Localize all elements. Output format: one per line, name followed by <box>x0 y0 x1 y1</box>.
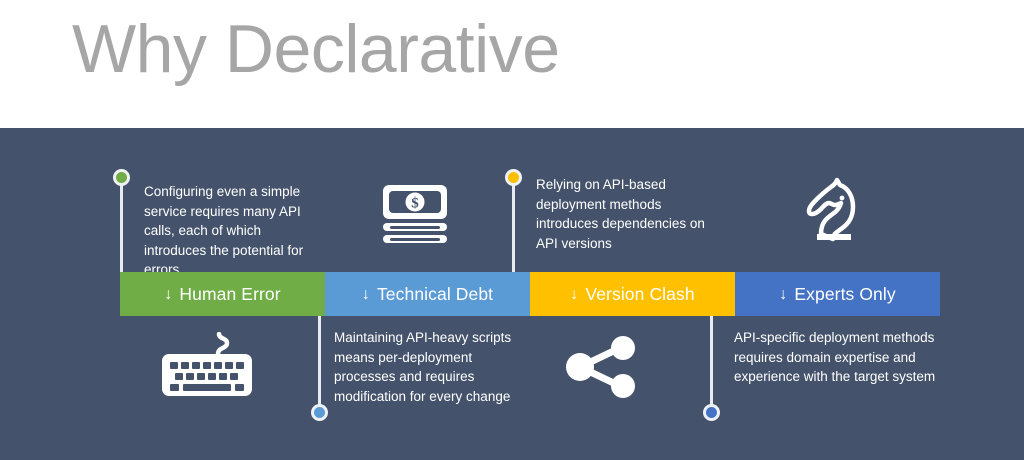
marker-dot-technical-debt <box>311 404 328 421</box>
marker-dot-version-clash <box>505 169 522 186</box>
bar-segment-experts-only[interactable]: ↓ Experts Only <box>735 272 940 316</box>
bar-segment-version-clash[interactable]: ↓ Version Clash <box>530 272 735 316</box>
bar-segment-label: Human Error <box>179 284 280 305</box>
down-arrow-icon: ↓ <box>779 287 787 303</box>
chess-knight-icon <box>795 170 861 246</box>
note-experts-only: API-specific deployment methods requires… <box>734 328 939 387</box>
marker-dot-human-error <box>113 169 130 186</box>
down-arrow-icon: ↓ <box>164 287 172 303</box>
down-arrow-icon: ↓ <box>362 287 370 303</box>
keyboard-icon <box>160 332 254 398</box>
network-share-icon <box>562 336 642 398</box>
connector-stem-version-clash <box>512 175 515 272</box>
connector-stem-experts-only <box>710 316 713 413</box>
note-technical-debt: Maintaining API-heavy scripts means per-… <box>334 328 519 406</box>
connector-stem-technical-debt <box>318 316 321 413</box>
note-version-clash: Relying on API-based deployment methods … <box>536 175 716 253</box>
bar-segment-label: Version Clash <box>585 284 694 305</box>
page-title: Why Declarative <box>72 14 560 85</box>
money-stack-icon: $ <box>380 183 450 245</box>
category-bar: ↓ Human Error ↓ Technical Debt ↓ Version… <box>120 272 940 316</box>
svg-text:$: $ <box>411 196 419 212</box>
bar-segment-technical-debt[interactable]: ↓ Technical Debt <box>325 272 530 316</box>
down-arrow-icon: ↓ <box>570 287 578 303</box>
marker-dot-experts-only <box>703 404 720 421</box>
note-human-error: Configuring even a simple service requir… <box>144 182 324 280</box>
connector-stem-human-error <box>120 175 123 272</box>
slide-root: Why Declarative Configuring even a simpl… <box>0 0 1024 460</box>
bar-segment-label: Experts Only <box>794 284 895 305</box>
slide-header: Why Declarative <box>0 0 1024 128</box>
bar-segment-human-error[interactable]: ↓ Human Error <box>120 272 325 316</box>
bar-segment-label: Technical Debt <box>377 284 493 305</box>
